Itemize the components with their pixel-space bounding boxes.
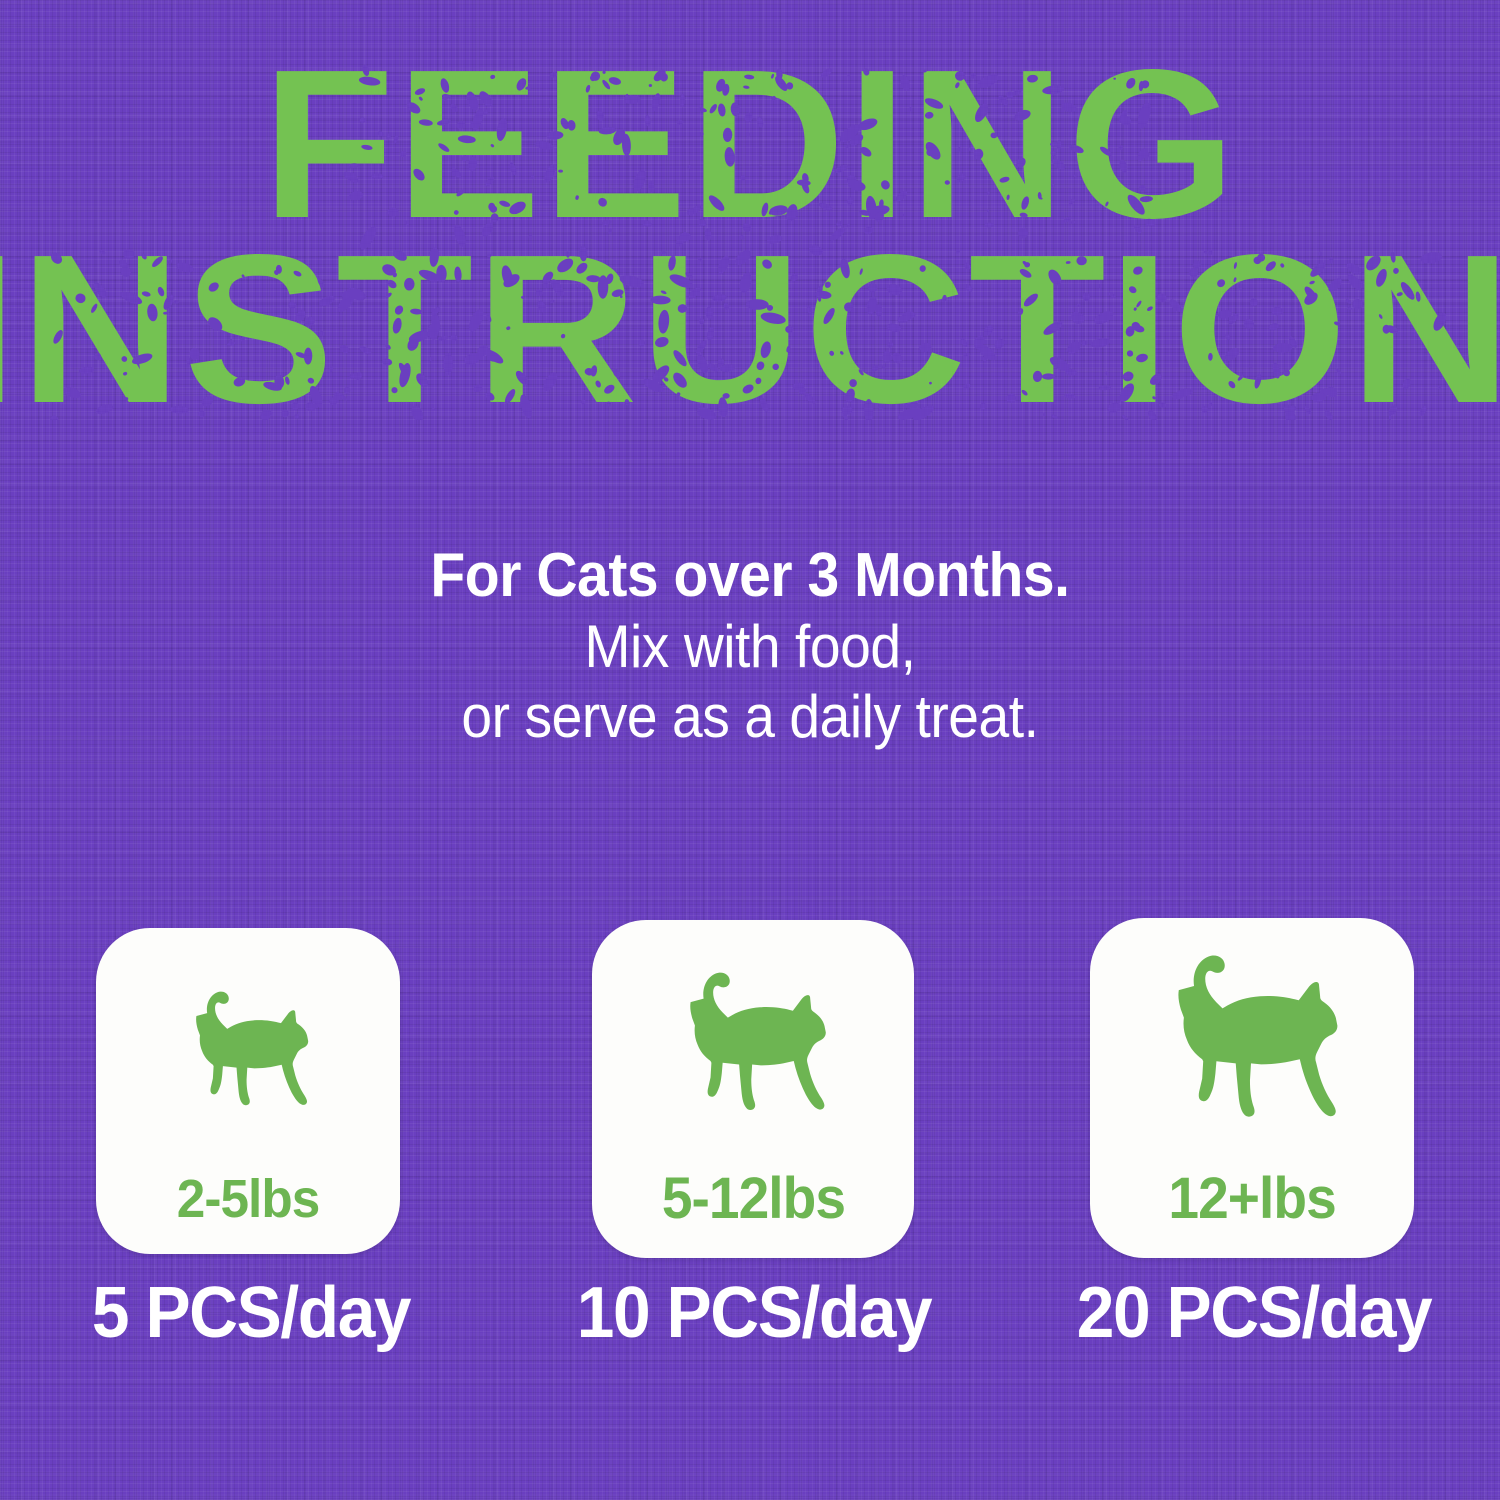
- dose-label-small: 5 PCS/day: [68, 1272, 435, 1354]
- cat-icon-wrap-small: [96, 964, 400, 1144]
- weight-label-medium: 5-12lbs: [661, 1165, 844, 1232]
- cat-walking-icon: [162, 968, 334, 1140]
- dose-label-row: 5 PCS/day 10 PCS/day 20 PCS/day: [0, 1272, 1500, 1382]
- weight-card-large: 12+lbs: [1090, 918, 1414, 1258]
- cat-walking-icon: [1130, 922, 1374, 1166]
- dose-label-medium: 10 PCS/day: [553, 1272, 955, 1354]
- instruction-line-2: Mix with food,: [60, 612, 1440, 682]
- weight-card-small: 2-5lbs: [96, 928, 400, 1254]
- headline-line-instructions: INSTRUCTIONS: [0, 231, 1500, 426]
- weight-class-card-row: 2-5lbs 5-12lbs 12+lbs: [0, 918, 1500, 1258]
- instruction-line-3: or serve as a daily treat.: [60, 682, 1440, 752]
- weight-label-small: 2-5lbs: [177, 1168, 320, 1230]
- cat-walking-icon: [649, 944, 857, 1152]
- feeding-instructions-poster: FEEDING INSTRUCTIONS For Cats over 3 Mon…: [0, 0, 1500, 1500]
- weight-label-large: 12+lbs: [1168, 1165, 1335, 1232]
- dose-label-large: 20 PCS/day: [1051, 1272, 1457, 1354]
- weight-card-medium: 5-12lbs: [592, 920, 914, 1258]
- page-title: FEEDING INSTRUCTIONS: [0, 46, 1500, 426]
- cat-icon-wrap-large: [1090, 926, 1414, 1162]
- cat-icon-wrap-medium: [592, 942, 914, 1154]
- instruction-line-1: For Cats over 3 Months.: [60, 540, 1440, 612]
- instruction-text-block: For Cats over 3 Months. Mix with food, o…: [0, 540, 1500, 751]
